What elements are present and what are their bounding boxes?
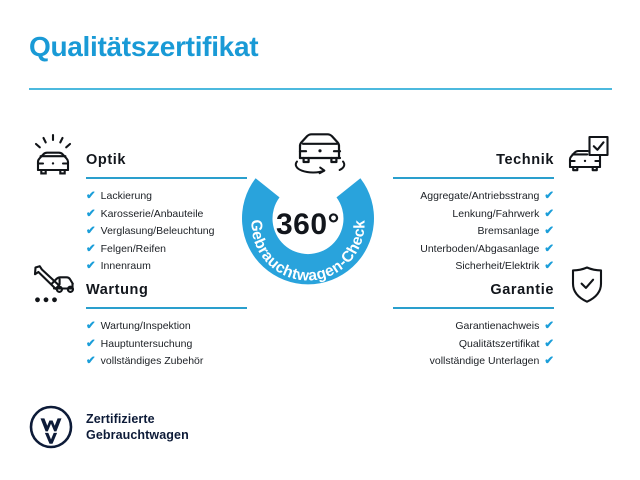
list-item-label: Garantienachweis: [455, 318, 539, 336]
section-title: Technik: [496, 152, 554, 168]
page-title: Qualitätszertifikat: [29, 31, 258, 63]
car-shine-icon: [29, 133, 77, 177]
list-item: vollständige Unterlagen✔: [393, 353, 611, 371]
vw-logo: [29, 405, 73, 449]
list-item-label: Unterboden/Abgasanlage: [420, 241, 539, 259]
check-icon: ✔: [544, 226, 554, 238]
section-optik: Optik ✔Lackierung ✔Karosserie/Anbauteile…: [29, 133, 247, 276]
section-header: Wartung: [29, 263, 247, 309]
section-divider: [393, 307, 554, 309]
list-item-label: Hauptuntersuchung: [101, 336, 193, 354]
check-icon: ✔: [544, 356, 554, 368]
check-icon: ✔: [86, 191, 96, 203]
check-icon: ✔: [86, 321, 96, 333]
list-item-label: Bremsanlage: [477, 223, 539, 241]
footer-text: Zertifizierte Gebrauchtwagen: [86, 411, 189, 443]
check-icon: ✔: [544, 244, 554, 256]
section-header: Optik: [29, 133, 247, 179]
list-item: Lenkung/Fahrwerk✔: [393, 206, 611, 224]
list-item-label: Lackierung: [101, 188, 152, 206]
check-icon: ✔: [86, 339, 96, 351]
section-wartung: Wartung ✔Wartung/Inspektion ✔Hauptunters…: [29, 263, 247, 371]
list-item-label: Karosserie/Anbauteile: [101, 206, 204, 224]
checklist-garantie: Garantienachweis✔ Qualitätszertifikat✔ v…: [393, 318, 611, 371]
list-item: ✔Hauptuntersuchung: [29, 336, 247, 354]
badge-center-value: 360°: [232, 208, 384, 242]
section-header: Garantie: [393, 263, 611, 309]
list-item: ✔Felgen/Reifen: [29, 241, 247, 259]
check-icon: ✔: [86, 226, 96, 238]
footer-line-2: Gebrauchtwagen: [86, 428, 189, 442]
check-icon: ✔: [86, 356, 96, 368]
check-icon: ✔: [86, 209, 96, 221]
section-divider: [86, 177, 247, 179]
list-item: Aggregate/Antriebsstrang✔: [393, 188, 611, 206]
certificate-page: Qualitätszertifikat: [0, 0, 640, 480]
check-icon: ✔: [544, 339, 554, 351]
list-item-label: Lenkung/Fahrwerk: [452, 206, 539, 224]
section-divider: [86, 307, 247, 309]
list-item-label: Wartung/Inspektion: [101, 318, 191, 336]
section-header: Technik: [393, 133, 611, 179]
list-item-label: Felgen/Reifen: [101, 241, 166, 259]
shield-check-icon: [563, 263, 611, 307]
list-item-label: Aggregate/Antriebsstrang: [420, 188, 539, 206]
section-divider: [393, 177, 554, 179]
list-item: ✔Wartung/Inspektion: [29, 318, 247, 336]
footer-line-1: Zertifizierte: [86, 412, 155, 426]
section-title: Garantie: [490, 282, 554, 298]
list-item-label: Verglasung/Beleuchtung: [101, 223, 215, 241]
list-item-label: vollständiges Zubehör: [101, 353, 204, 371]
list-item: ✔Verglasung/Beleuchtung: [29, 223, 247, 241]
list-item: Bremsanlage✔: [393, 223, 611, 241]
list-item: Garantienachweis✔: [393, 318, 611, 336]
list-item: ✔Karosserie/Anbauteile: [29, 206, 247, 224]
check-icon: ✔: [544, 209, 554, 221]
checklist-wartung: ✔Wartung/Inspektion ✔Hauptuntersuchung ✔…: [29, 318, 247, 371]
car-checkbox-icon: [563, 133, 611, 177]
section-title: Wartung: [86, 282, 148, 298]
section-title: Optik: [86, 152, 126, 168]
list-item: Qualitätszertifikat✔: [393, 336, 611, 354]
footer-logo-block: Zertifizierte Gebrauchtwagen: [29, 405, 189, 449]
list-item: Unterboden/Abgasanlage✔: [393, 241, 611, 259]
section-technik: Technik Aggregate/Antriebsstrang✔ Lenkun…: [393, 133, 611, 276]
list-item-label: vollständige Unterlagen: [430, 353, 540, 371]
check-icon: ✔: [86, 244, 96, 256]
title-divider: [29, 88, 612, 90]
list-item: ✔Lackierung: [29, 188, 247, 206]
check-icon: ✔: [544, 191, 554, 203]
wrench-car-icon: [29, 263, 77, 307]
list-item-label: Qualitätszertifikat: [459, 336, 540, 354]
list-item: ✔vollständiges Zubehör: [29, 353, 247, 371]
check-icon: ✔: [544, 321, 554, 333]
section-garantie: Garantie Garantienachweis✔ Qualitätszert…: [393, 263, 611, 371]
car-rotate-icon: [283, 120, 357, 176]
